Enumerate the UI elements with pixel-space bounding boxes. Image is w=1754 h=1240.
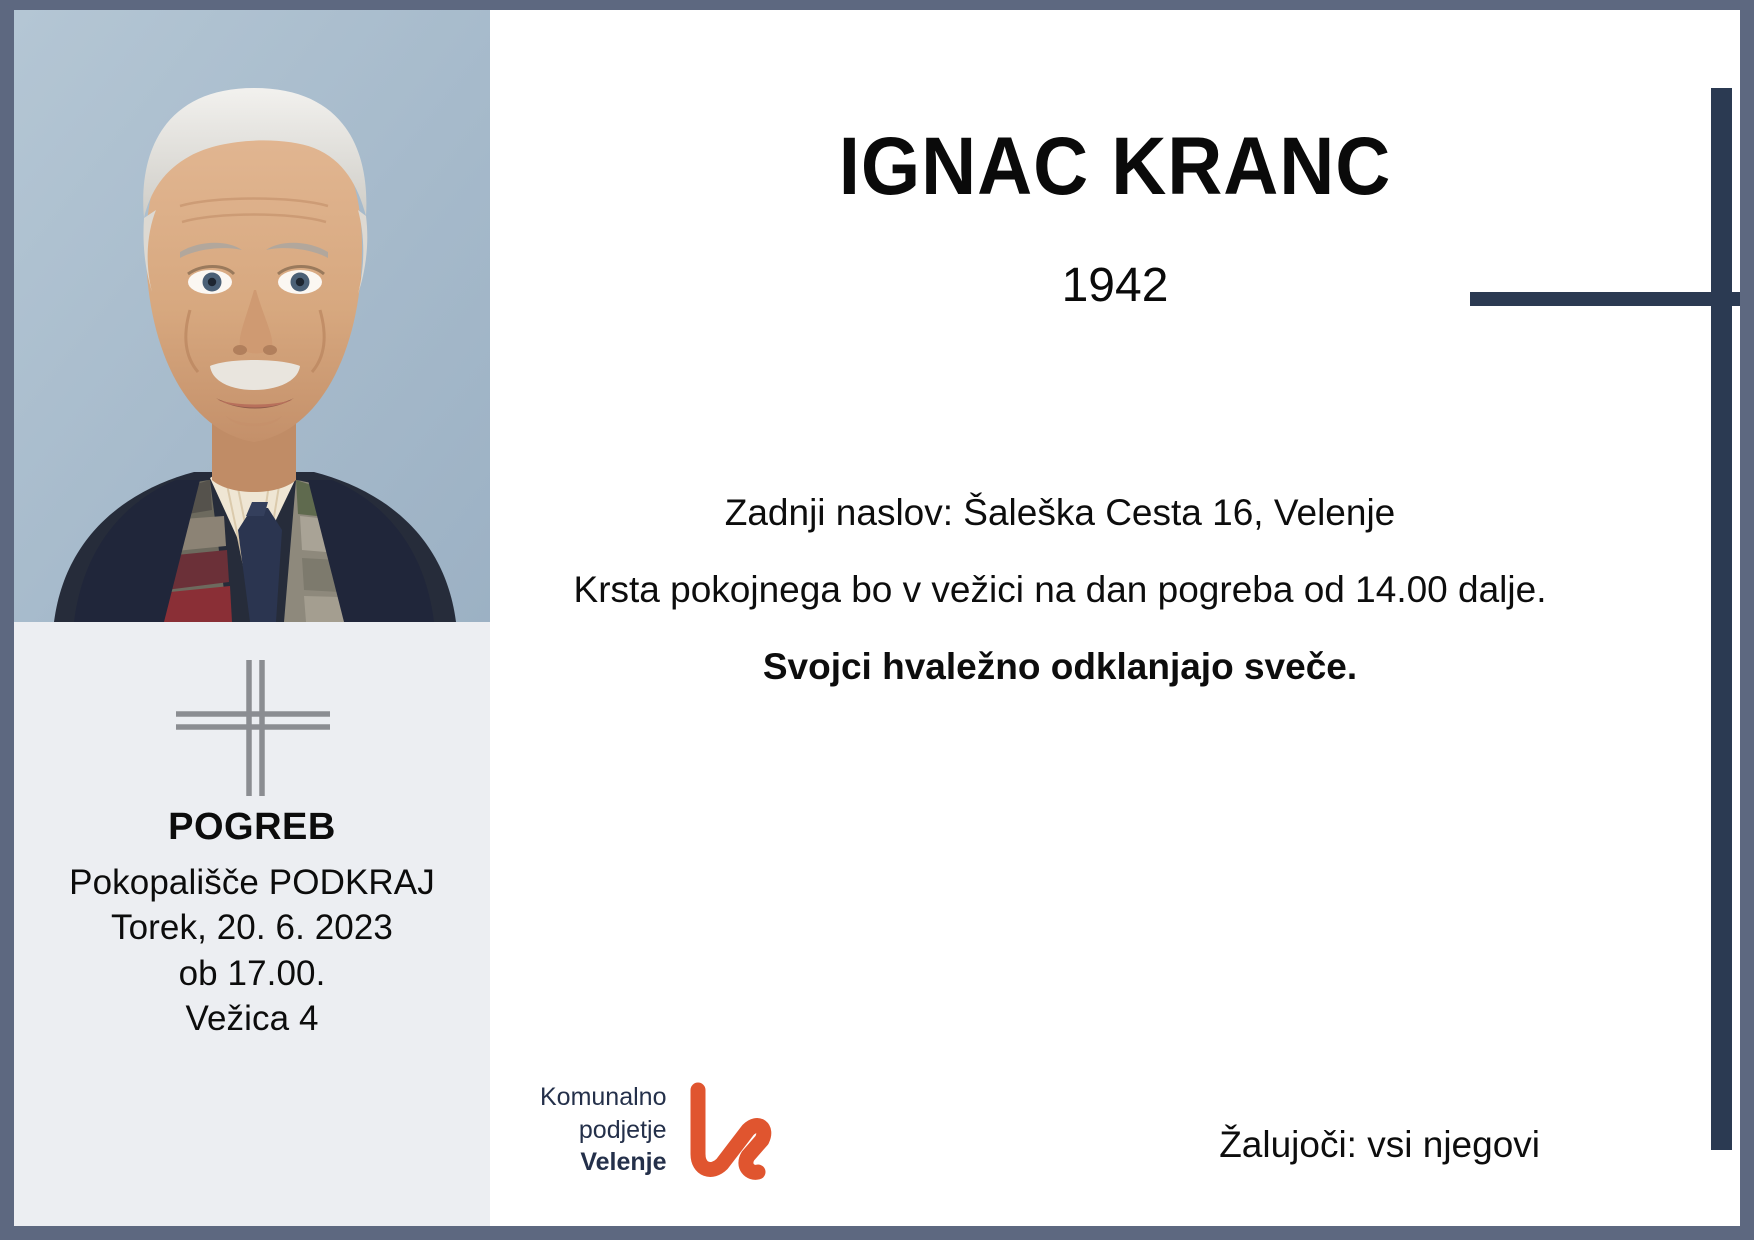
cross-icon-large-vertical bbox=[1711, 88, 1732, 1150]
right-panel: IGNAC KRANC 1942 Zadnji naslov: Šaleška … bbox=[490, 10, 1740, 1226]
notice-body: Zadnji naslov: Šaleška Cesta 16, Velenje… bbox=[560, 490, 1560, 689]
cross-icon-large-horizontal bbox=[1470, 292, 1740, 306]
candles-notice: Svojci hvaležno odklanjajo sveče. bbox=[560, 644, 1560, 689]
left-panel: POGREB Pokopališče PODKRAJ Torek, 20. 6.… bbox=[14, 10, 490, 1226]
logo-line-3: Velenje bbox=[540, 1146, 666, 1179]
funeral-details: POGREB Pokopališče PODKRAJ Torek, 20. 6.… bbox=[14, 806, 490, 1042]
funeral-time: ob 17.00. bbox=[14, 951, 490, 997]
funeral-chapel: Vežica 4 bbox=[14, 996, 490, 1042]
logo-line-2: podjetje bbox=[540, 1114, 666, 1147]
funeral-date: Torek, 20. 6. 2023 bbox=[14, 905, 490, 951]
funeral-heading: POGREB bbox=[14, 806, 490, 850]
viewing-info: Krsta pokojnega bo v vežici na dan pogre… bbox=[560, 567, 1560, 612]
obituary-frame: POGREB Pokopališče PODKRAJ Torek, 20. 6.… bbox=[0, 0, 1754, 1240]
logo-wordmark: Komunalno podjetje Velenje bbox=[540, 1081, 666, 1179]
logo-line-1: Komunalno bbox=[540, 1081, 666, 1114]
last-address: Zadnji naslov: Šaleška Cesta 16, Velenje bbox=[560, 490, 1560, 535]
obituary-card: POGREB Pokopališče PODKRAJ Torek, 20. 6.… bbox=[14, 10, 1740, 1226]
cross-icon-small bbox=[14, 658, 490, 798]
mourners-line: Žalujoči: vsi njegovi bbox=[1219, 1124, 1540, 1166]
funeral-cemetery: Pokopališče PODKRAJ bbox=[14, 860, 490, 906]
logo-k-mark-icon bbox=[682, 1076, 774, 1184]
page-title: IGNAC KRANC bbox=[534, 120, 1697, 214]
company-logo: Komunalno podjetje Velenje bbox=[540, 1076, 774, 1184]
portrait-photo bbox=[14, 10, 490, 622]
